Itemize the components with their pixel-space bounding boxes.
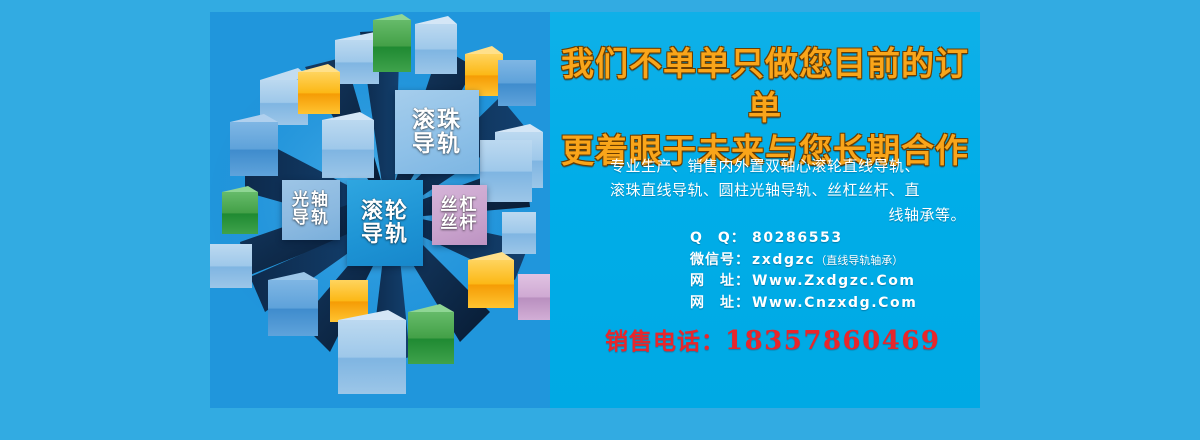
sales-phone-label: 销售电话：: [605, 329, 725, 355]
product-chip-gunzhu-daogui[interactable]: 滚珠 导轨: [395, 90, 479, 174]
product-chip-gunzhu-line2: 导轨: [412, 132, 462, 156]
contact-value-qq[interactable]: 80286553: [752, 228, 843, 250]
description-paragraph: 专业生产、销售内外置双轴心滚轮直线导轨、 滚珠直线导轨、圆柱光轴导轨、丝杠丝杆、…: [564, 154, 966, 227]
contact-note-wechat: （直线导轨轴承）: [815, 252, 903, 269]
product-chip-gunlun-daogui[interactable]: 滚轮 导轨: [347, 180, 423, 266]
product-chip-gunlun-line1: 滚轮: [361, 200, 409, 223]
product-chip-gunzhu-line1: 滚珠: [412, 108, 462, 132]
promo-banner: 滚珠 导轨 光轴 导轨 滚轮 导轨 丝杠 丝杆 我们不单单只做您目前的订单 更着…: [210, 12, 980, 408]
contact-row-qq: Q Q： 80286553: [690, 228, 980, 250]
product-chip-gunlun-line2: 导轨: [361, 223, 409, 246]
contact-value-website-2[interactable]: Www.Cnzxdg.Com: [752, 293, 917, 315]
sales-phone-number[interactable]: 18357860469: [725, 326, 941, 356]
product-chip-guangzhou-line2: 导轨: [292, 210, 330, 228]
banner-page: 滚珠 导轨 光轴 导轨 滚轮 导轨 丝杠 丝杆 我们不单单只做您目前的订单 更着…: [0, 0, 1200, 440]
contact-label-website-1: 网 址：: [690, 271, 752, 293]
contact-value-website-1[interactable]: Www.Zxdgzc.Com: [752, 271, 916, 293]
contact-row-wechat: 微信号： zxdgzc （直线导轨轴承）: [690, 250, 980, 272]
contact-label-website-2: 网 址：: [690, 293, 752, 315]
product-chip-sigang-sigan[interactable]: 丝杠 丝杆: [432, 185, 487, 245]
contact-row-website-1: 网 址： Www.Zxdgzc.Com: [690, 271, 980, 293]
description-line-1: 专业生产、销售内外置双轴心滚轮直线导轨、: [564, 154, 966, 178]
sales-phone[interactable]: 销售电话：18357860469: [605, 322, 980, 356]
banner-copy-column: 我们不单单只做您目前的订单 更着眼于未来与您长期合作 专业生产、销售内外置双轴心…: [550, 12, 980, 408]
product-chip-sigang-line2: 丝杆: [441, 215, 479, 233]
contact-label-qq: Q Q：: [690, 228, 752, 250]
product-chip-guangzhou-daogui[interactable]: 光轴 导轨: [282, 180, 340, 240]
contact-label-wechat: 微信号：: [690, 250, 752, 272]
headline-line-1: 我们不单单只做您目前的订单: [550, 42, 980, 129]
description-line-3: 线轴承等。: [564, 203, 966, 227]
exploded-cubes-graphic: 滚珠 导轨 光轴 导轨 滚轮 导轨 丝杠 丝杆: [210, 12, 550, 408]
contact-value-wechat[interactable]: zxdgzc: [752, 250, 815, 272]
contact-row-website-2: 网 址： Www.Cnzxdg.Com: [690, 293, 980, 315]
contact-block: Q Q： 80286553 微信号： zxdgzc （直线导轨轴承） 网 址： …: [690, 228, 980, 315]
description-line-2: 滚珠直线导轨、圆柱光轴导轨、丝杠丝杆、直: [564, 178, 966, 202]
